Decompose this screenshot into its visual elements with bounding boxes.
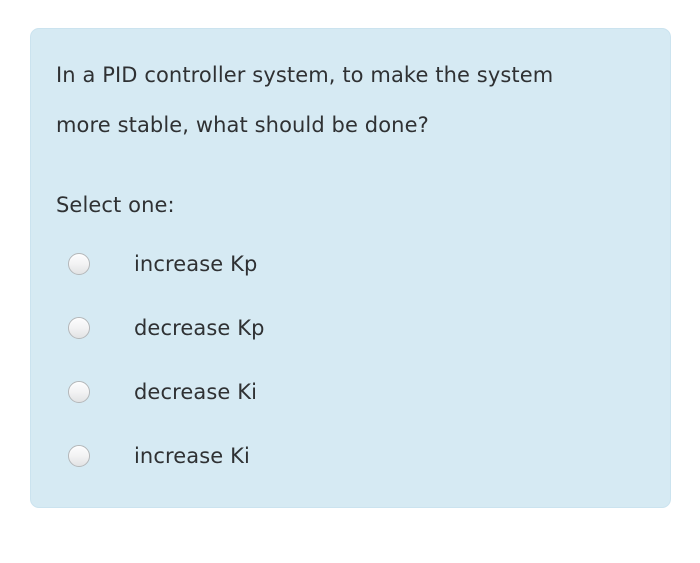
answer-option-label: increase Ki bbox=[134, 442, 250, 470]
radio-button-icon[interactable] bbox=[68, 253, 90, 275]
answer-option-increase-ki[interactable]: increase Ki bbox=[31, 439, 670, 503]
select-one-label: Select one: bbox=[56, 191, 175, 219]
question-card: In a PID controller system, to make the … bbox=[30, 28, 671, 508]
answer-option-label: decrease Ki bbox=[134, 378, 257, 406]
answer-options-list: increase Kp decrease Kp decrease Ki incr… bbox=[31, 247, 670, 503]
answer-option-label: increase Kp bbox=[134, 250, 257, 278]
answer-option-increase-kp[interactable]: increase Kp bbox=[31, 247, 670, 311]
answer-option-label: decrease Kp bbox=[134, 314, 265, 342]
question-text: In a PID controller system, to make the … bbox=[56, 50, 646, 150]
radio-button-icon[interactable] bbox=[68, 317, 90, 339]
radio-button-icon[interactable] bbox=[68, 445, 90, 467]
answer-option-decrease-ki[interactable]: decrease Ki bbox=[31, 375, 670, 439]
answer-option-decrease-kp[interactable]: decrease Kp bbox=[31, 311, 670, 375]
radio-button-icon[interactable] bbox=[68, 381, 90, 403]
